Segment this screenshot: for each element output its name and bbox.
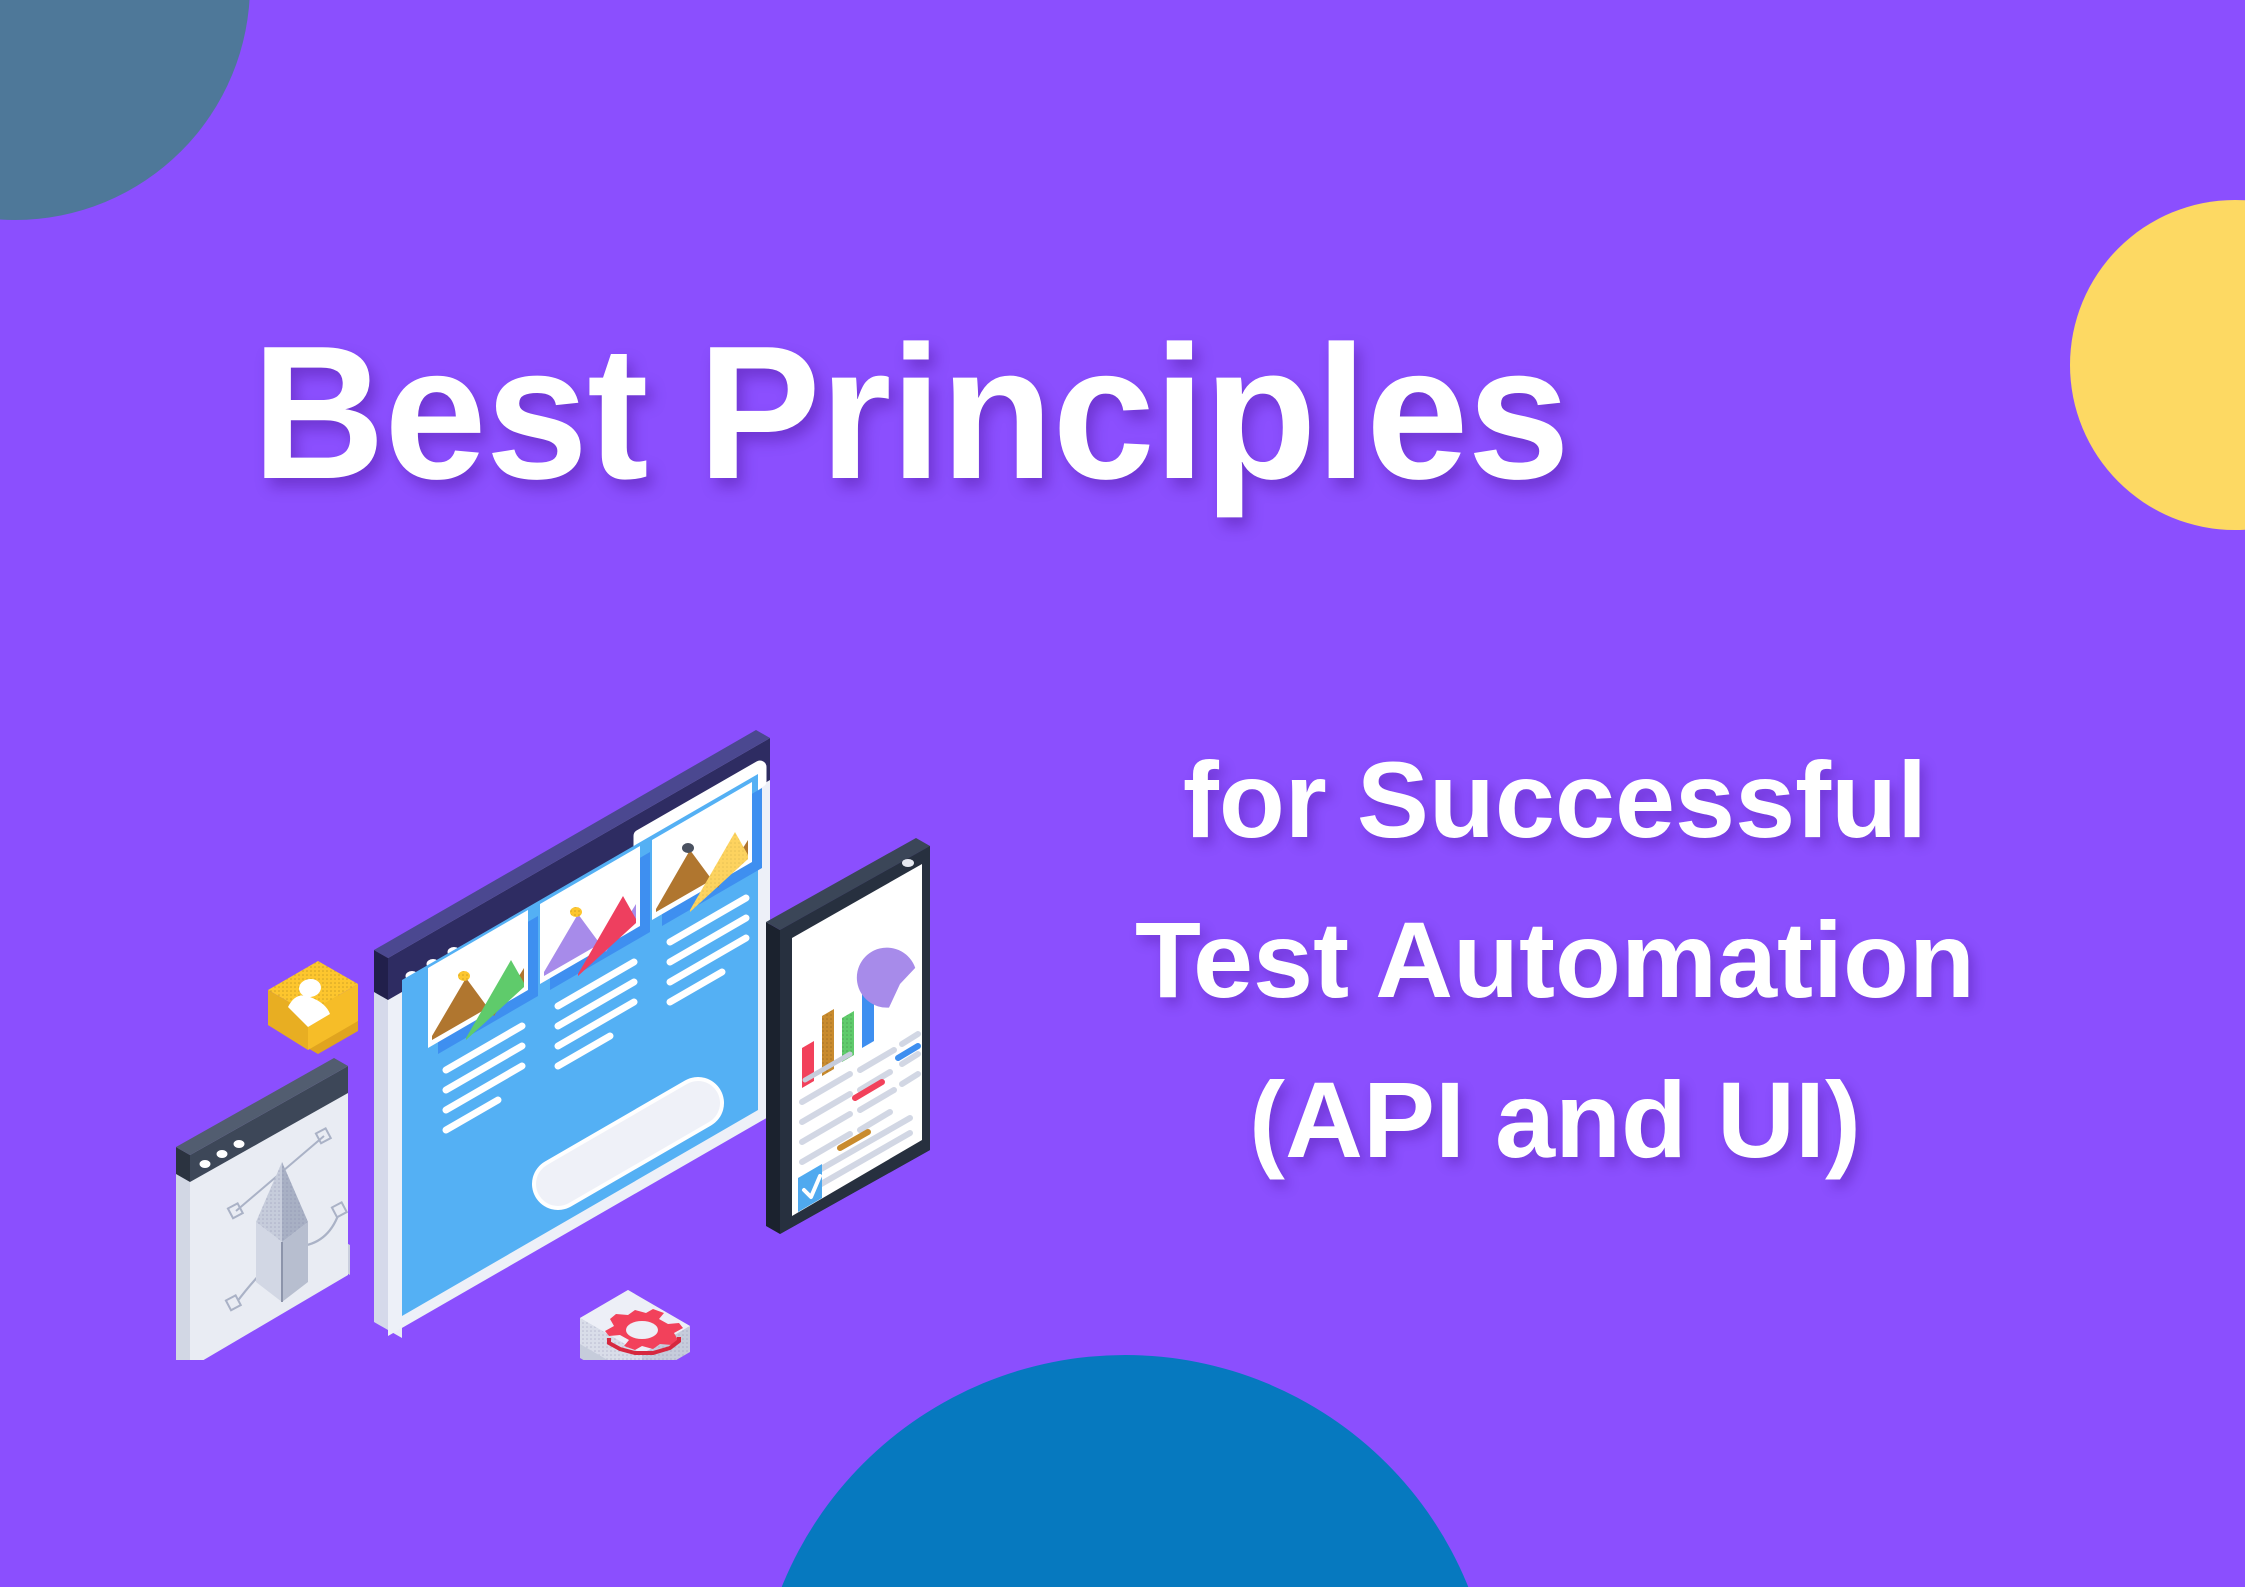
banner-root: Best Principles for Successful Test Auto… <box>0 0 2245 1587</box>
subtitle-line-2: Test Automation <box>1030 880 2080 1040</box>
subtitle-line-3: (API and UI) <box>1030 1040 2080 1200</box>
top-left-decorative-circle <box>0 0 250 220</box>
subtitle-line-1: for Successful <box>1030 720 2080 880</box>
page-title: Best Principles <box>252 318 1569 508</box>
gear-tile <box>580 1290 690 1360</box>
pen-tool-window <box>176 1058 350 1360</box>
mobile-phone-card <box>766 838 930 1234</box>
right-decorative-circle <box>2070 200 2245 530</box>
browser-window-card <box>374 730 770 1338</box>
bottom-center-decorative-circle <box>755 1355 1495 1587</box>
isometric-illustration <box>150 650 1010 1360</box>
page-subtitle: for Successful Test Automation (API and … <box>1030 720 2080 1199</box>
user-avatar-tile <box>268 961 358 1054</box>
